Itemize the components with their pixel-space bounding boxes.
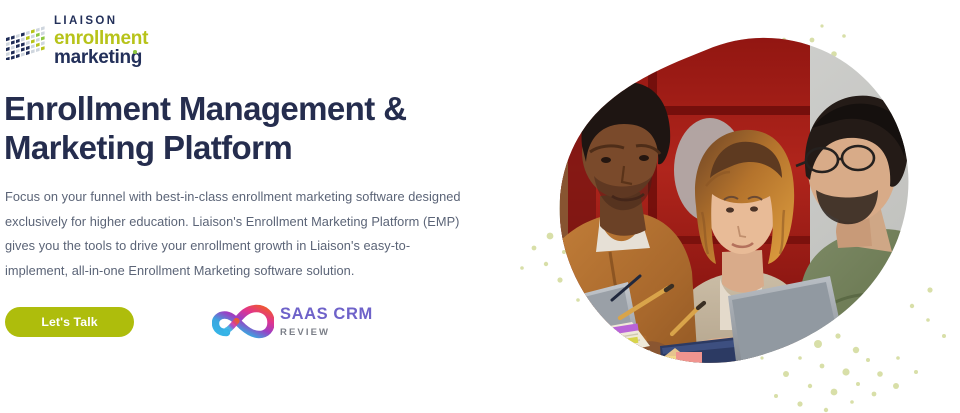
logo-enrollment-text: enrollment [54, 29, 148, 49]
logo-marketing-label: marketing [54, 47, 142, 68]
saas-badge-text: SAAS CRM REVIEW [280, 306, 373, 337]
logo-marketing-text: marketing [54, 48, 148, 68]
saas-review-subtitle: REVIEW [280, 328, 373, 338]
hero-artwork [500, 0, 960, 413]
logo-wordmark: LIAISON enrollment marketing [54, 14, 148, 68]
hero-content-column: LIAISON enrollment marketing Enrollment … [0, 0, 500, 413]
liaison-logo[interactable]: LIAISON enrollment marketing [6, 14, 500, 64]
photo-content [534, 20, 960, 412]
cta-row: Let's Talk [5, 302, 500, 342]
saas-crm-review-badge[interactable]: SAAS CRM REVIEW [212, 302, 373, 342]
liaison-dot-grid-icon [6, 24, 50, 60]
lets-talk-button[interactable]: Let's Talk [5, 307, 134, 337]
logo-liaison-text: LIAISON [54, 16, 148, 28]
saas-crm-title: SAAS CRM [280, 306, 373, 323]
desk-and-props [540, 276, 960, 412]
team-collaboration-photo [500, 0, 960, 413]
page-title: Enrollment Management & Marketing Platfo… [4, 90, 474, 168]
hero-description: Focus on your funnel with best-in-class … [5, 185, 465, 284]
logo-green-dot-icon [133, 50, 137, 54]
infinity-loop-icon [212, 302, 274, 342]
hero-section: LIAISON enrollment marketing Enrollment … [0, 0, 960, 413]
